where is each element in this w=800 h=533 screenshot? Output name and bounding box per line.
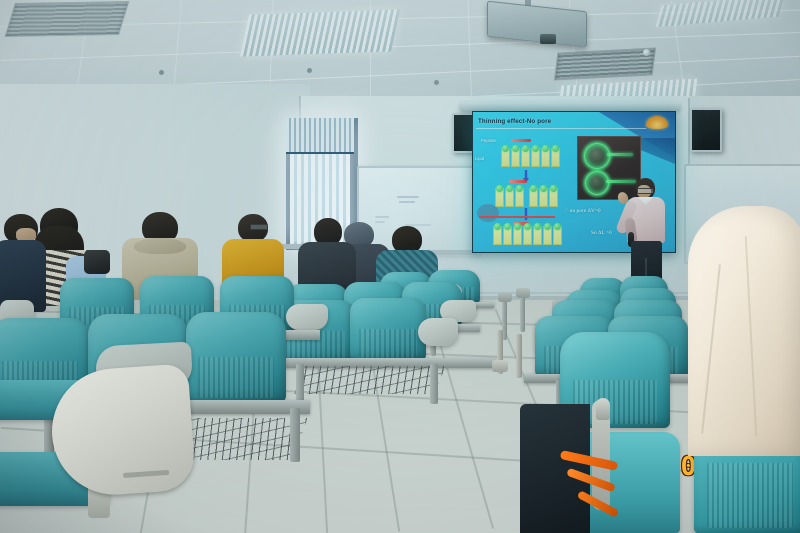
tablet-arm-hinge <box>498 292 512 302</box>
lipid-unit <box>531 148 540 167</box>
slide-membrane-stage-1 <box>501 148 560 167</box>
slide-membrane-stage-2a <box>495 188 524 207</box>
hijab-garment <box>688 206 800 456</box>
tablet-arm[interactable] <box>286 304 328 330</box>
lipid-unit <box>533 226 542 245</box>
vesicle-image <box>584 143 610 169</box>
ceiling-air-vent <box>4 1 129 37</box>
slide-membrane-stage-2b <box>529 188 558 207</box>
tablet-arm-slot <box>123 470 169 478</box>
slide-peptide-bar <box>509 180 527 183</box>
lipid-unit <box>511 148 520 167</box>
foreground-dark-bag <box>520 404 590 533</box>
slide-baseline-arrow <box>479 216 555 218</box>
sprinkler-head-icon <box>159 70 164 75</box>
slide-vesicle-shadow <box>477 204 499 222</box>
lipid-unit <box>541 148 550 167</box>
tablet-arm-cap <box>596 398 610 420</box>
smoke-detector-icon <box>643 49 650 56</box>
lipid-unit <box>529 188 538 207</box>
projection-screen-housing <box>460 102 680 111</box>
lipid-unit <box>501 148 510 167</box>
slide-logo-icon <box>646 116 668 129</box>
slide-equation-1: ∴ no pore ΔV=0 <box>565 208 601 214</box>
ceiling-light-panel <box>655 0 784 27</box>
sprinkler-head-icon <box>307 68 312 73</box>
slide-title-rule <box>476 128 646 129</box>
whiteboard-marking <box>375 216 389 218</box>
wall-speaker-right <box>690 108 722 152</box>
slide-label-lipid: Lipid <box>475 156 484 161</box>
slide-membrane-stage-3 <box>493 226 562 245</box>
lipid-unit <box>495 188 504 207</box>
chair-leg <box>520 296 525 332</box>
lecture-hall-photograph: Thinning effect-No pore Peptide Lipid <box>0 0 800 533</box>
lipid-unit <box>539 188 548 207</box>
chair-leg <box>516 334 522 378</box>
lipid-unit <box>515 188 524 207</box>
vesicle-micropipette <box>607 153 633 156</box>
whiteboard-marking <box>399 201 415 203</box>
lipid-unit <box>513 226 522 245</box>
lipid-unit <box>549 188 558 207</box>
book-basket <box>294 366 445 394</box>
sprinkler-head-icon <box>434 80 439 85</box>
lipid-unit <box>521 148 530 167</box>
audience-member-foreground <box>688 206 800 456</box>
whiteboard-marking <box>397 196 419 198</box>
chair-backrest <box>186 312 286 402</box>
window-blind-headrail[interactable] <box>286 118 354 154</box>
vesicle-image <box>585 171 609 195</box>
presenter <box>622 178 668 286</box>
lipid-unit <box>503 226 512 245</box>
lipid-unit <box>553 226 562 245</box>
audience-member <box>0 214 46 310</box>
lipid-unit <box>493 226 502 245</box>
chair-backrest <box>350 298 426 360</box>
slide-peptide-bar <box>511 139 531 142</box>
lipid-unit <box>523 226 532 245</box>
ceiling-air-vent <box>554 47 656 80</box>
lipid-unit <box>543 226 552 245</box>
tablet-arm-hinge <box>492 360 508 372</box>
hoodie-hood <box>134 238 186 254</box>
ceiling-light-panel <box>240 9 400 56</box>
lipid-unit <box>505 188 514 207</box>
chair-leg <box>430 364 438 404</box>
slide-label-peptide: Peptide <box>481 138 496 143</box>
slide-equation-2: So ΔL >0 <box>591 230 612 236</box>
tablet-arm-hinge <box>516 288 530 298</box>
chair-leg <box>296 364 304 404</box>
audience-member <box>298 218 356 292</box>
slide-title: Thinning effect-No pore <box>478 118 551 125</box>
eyeglasses-icon <box>250 224 268 230</box>
tablet-arm[interactable] <box>418 318 458 346</box>
eyeglasses-icon <box>637 188 654 194</box>
camera-object <box>84 250 110 274</box>
projector-lens-icon <box>540 34 556 44</box>
chair-leg <box>290 408 300 462</box>
lipid-unit <box>551 148 560 167</box>
